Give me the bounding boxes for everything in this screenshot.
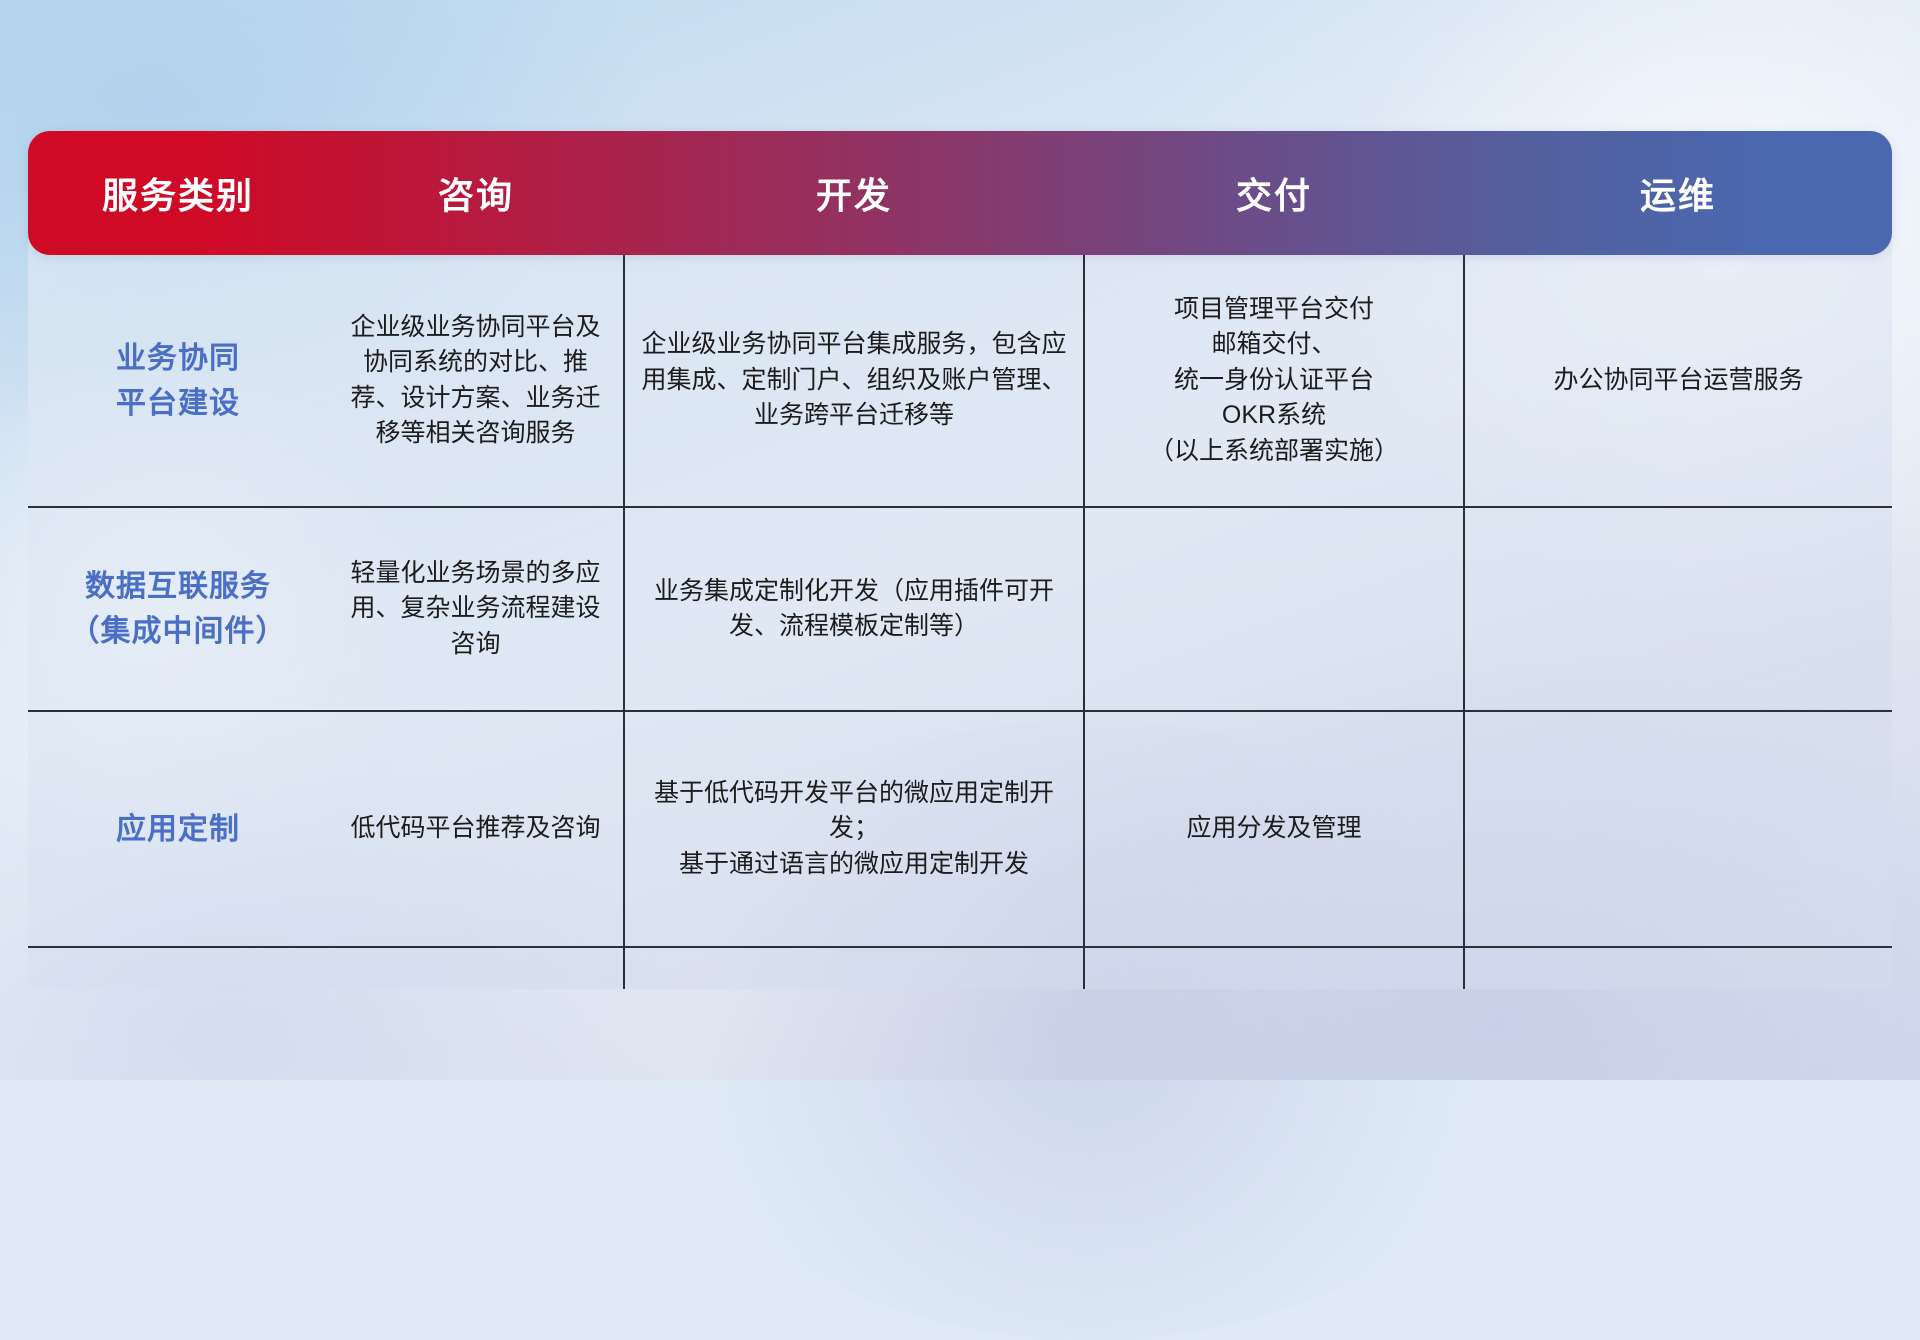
delivery-line: 邮箱交付、 <box>1101 327 1447 363</box>
cell-delivery-row2 <box>1084 507 1464 711</box>
spacer-cell <box>328 947 624 989</box>
spacer-cell <box>28 947 328 989</box>
spacer-cell <box>624 947 1084 989</box>
cell-operations-row1: 办公协同平台运营服务 <box>1464 255 1892 507</box>
cell-consulting-row3: 低代码平台推荐及咨询 <box>328 711 624 947</box>
cell-operations-row3 <box>1464 711 1892 947</box>
row-label-app-customization: 应用定制 <box>28 711 328 947</box>
cell-delivery-row1: 项目管理平台交付 邮箱交付、 统一身份认证平台 OKR系统 （以上系统部署实施） <box>1084 255 1464 507</box>
table-row: 业务协同 平台建设 企业级业务协同平台及协同系统的对比、推荐、设计方案、业务迁移… <box>28 255 1892 507</box>
row-label-line-2: （集成中间件） <box>44 609 312 654</box>
delivery-line: OKR系统 <box>1101 398 1447 434</box>
column-header-delivery: 交付 <box>1084 167 1464 219</box>
spacer-cell <box>1084 947 1464 989</box>
row-label-line-1: 业务协同 <box>44 336 312 381</box>
cell-development-row2: 业务集成定制化开发（应用插件可开发、流程模板定制等） <box>624 507 1084 711</box>
delivery-line: 项目管理平台交付 <box>1101 292 1447 328</box>
service-matrix: 服务类别 咨询 开发 交付 运维 业务协同 平台建设 企业级业务协同平台及协同系… <box>28 131 1892 989</box>
table-bottom-spacer-row <box>28 947 1892 989</box>
delivery-line: 统一身份认证平台 <box>1101 363 1447 399</box>
table-body-panel: 业务协同 平台建设 企业级业务协同平台及协同系统的对比、推荐、设计方案、业务迁移… <box>28 237 1892 989</box>
cell-operations-row2 <box>1464 507 1892 711</box>
row-label-line-2: 平台建设 <box>44 381 312 426</box>
cell-development-row1: 企业级业务协同平台集成服务，包含应用集成、定制门户、组织及账户管理、业务跨平台迁… <box>624 255 1084 507</box>
row-label-line-1: 数据互联服务 <box>44 564 312 609</box>
table-row: 数据互联服务 （集成中间件） 轻量化业务场景的多应用、复杂业务流程建设咨询 业务… <box>28 507 1892 711</box>
spacer-cell <box>1464 947 1892 989</box>
cell-delivery-row3: 应用分发及管理 <box>1084 711 1464 947</box>
row-label-business-collaboration: 业务协同 平台建设 <box>28 255 328 507</box>
table-header-bar: 服务类别 咨询 开发 交付 运维 <box>28 131 1892 255</box>
service-table: 业务协同 平台建设 企业级业务协同平台及协同系统的对比、推荐、设计方案、业务迁移… <box>28 255 1892 989</box>
row-label-line-1: 应用定制 <box>44 807 312 852</box>
cell-consulting-row2: 轻量化业务场景的多应用、复杂业务流程建设咨询 <box>328 507 624 711</box>
table-row: 应用定制 低代码平台推荐及咨询 基于低代码开发平台的微应用定制开发； 基于通过语… <box>28 711 1892 947</box>
column-header-operations: 运维 <box>1464 167 1892 219</box>
cell-consulting-row1: 企业级业务协同平台及协同系统的对比、推荐、设计方案、业务迁移等相关咨询服务 <box>328 255 624 507</box>
column-header-service-category: 服务类别 <box>28 167 328 219</box>
row-label-data-integration: 数据互联服务 （集成中间件） <box>28 507 328 711</box>
column-header-consulting: 咨询 <box>328 167 624 219</box>
column-header-development: 开发 <box>624 167 1084 219</box>
development-line: 基于低代码开发平台的微应用定制开发； <box>641 776 1067 847</box>
development-line: 基于通过语言的微应用定制开发 <box>641 847 1067 883</box>
delivery-line: （以上系统部署实施） <box>1101 434 1447 470</box>
cell-development-row3: 基于低代码开发平台的微应用定制开发； 基于通过语言的微应用定制开发 <box>624 711 1084 947</box>
